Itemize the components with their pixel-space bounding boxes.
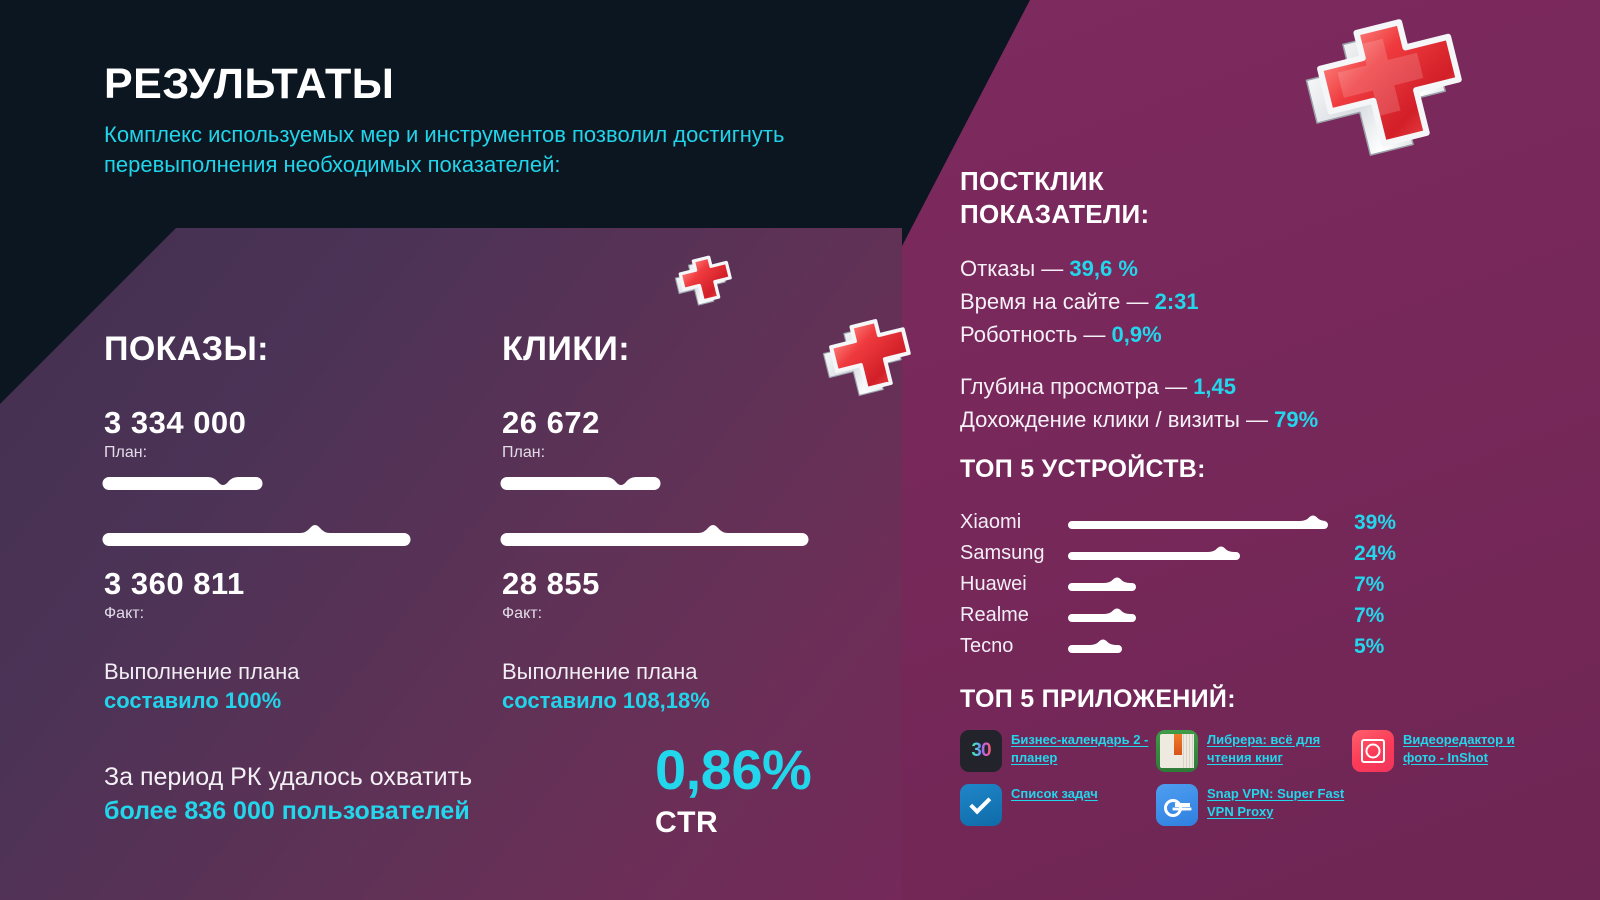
postclick-title-line1: ПОСТКЛИК bbox=[960, 165, 1149, 198]
ctr-block: 0,86% CTR bbox=[655, 742, 811, 840]
app-name[interactable]: Видеоредактор и фото - InShot bbox=[1403, 730, 1548, 767]
device-row: Huawei 7% bbox=[960, 569, 1396, 600]
infographic-root: ПОСТКЛИК ПОКАЗАТЕЛИ: Отказы — 39,6 % Вре… bbox=[0, 0, 1600, 900]
metric-heading: ПОКАЗЫ: bbox=[104, 330, 424, 369]
app-name[interactable]: Snap VPN: Super Fast VPN Proxy bbox=[1207, 784, 1352, 821]
device-bar bbox=[1068, 609, 1336, 623]
app-item[interactable]: Либрера: всё для чтения книг bbox=[1156, 730, 1352, 772]
completion-value: составило 108,18% bbox=[502, 686, 822, 715]
reach-block: За период РК удалось охватить более 836 … bbox=[104, 760, 644, 828]
postclick-label: Глубина просмотра — bbox=[960, 374, 1193, 399]
device-row: Samsung 24% bbox=[960, 538, 1396, 569]
postclick-value: 79% bbox=[1274, 407, 1318, 432]
fact-bar bbox=[502, 530, 822, 552]
postclick-value: 0,9% bbox=[1112, 322, 1162, 347]
apps-grid: 30 Бизнес-календарь 2 - планер Либрера: … bbox=[960, 730, 1560, 838]
page-subtitle: Комплекс используемых мер и инструментов… bbox=[104, 120, 874, 180]
postclick-row: Глубина просмотра — 1,45 bbox=[960, 370, 1318, 403]
postclick-title: ПОСТКЛИК ПОКАЗАТЕЛИ: bbox=[960, 165, 1149, 231]
devices-list: Xiaomi 39% Samsung 24% Huawei bbox=[960, 507, 1396, 662]
app-item[interactable]: Видеоредактор и фото - InShot bbox=[1352, 730, 1548, 772]
postclick-title-line2: ПОКАЗАТЕЛИ: bbox=[960, 198, 1149, 231]
completion-block: Выполнение плана составило 100% bbox=[104, 657, 424, 715]
plan-value: 3 334 000 bbox=[104, 407, 424, 438]
fact-value: 3 360 811 bbox=[104, 568, 424, 599]
postclick-label: Отказы — bbox=[960, 256, 1069, 281]
device-name: Huawei bbox=[960, 573, 1068, 596]
fact-label: Факт: bbox=[104, 605, 424, 623]
plan-bar bbox=[502, 476, 822, 498]
book-icon bbox=[1156, 730, 1198, 772]
apps-row: 30 Бизнес-календарь 2 - планер Либрера: … bbox=[960, 730, 1560, 772]
device-name: Tecno bbox=[960, 635, 1068, 658]
app-name[interactable]: Список задач bbox=[1011, 784, 1098, 803]
app-name[interactable]: Бизнес-календарь 2 - планер bbox=[1011, 730, 1156, 767]
device-name: Xiaomi bbox=[960, 511, 1068, 534]
app-item[interactable]: 30 Бизнес-календарь 2 - планер bbox=[960, 730, 1156, 772]
fact-bar bbox=[104, 530, 424, 552]
reach-value: более 836 000 пользователей bbox=[104, 794, 644, 828]
postclick-row: Время на сайте — 2:31 bbox=[960, 285, 1318, 318]
device-bar bbox=[1068, 516, 1336, 530]
apps-title: ТОП 5 ПРИЛОЖЕНИЙ: bbox=[960, 685, 1236, 714]
postclick-label: Роботность — bbox=[960, 322, 1112, 347]
metric-heading: КЛИКИ: bbox=[502, 330, 822, 369]
app-name[interactable]: Либрера: всё для чтения книг bbox=[1207, 730, 1352, 767]
calendar-30-icon: 30 bbox=[960, 730, 1002, 772]
inshot-icon bbox=[1352, 730, 1394, 772]
app-item[interactable]: Список задач bbox=[960, 784, 1156, 826]
device-name: Realme bbox=[960, 604, 1068, 627]
fact-value: 28 855 bbox=[502, 568, 822, 599]
device-bar bbox=[1068, 547, 1336, 561]
device-row: Realme 7% bbox=[960, 600, 1396, 631]
postclick-label: Дохождение клики / визиты — bbox=[960, 407, 1274, 432]
postclick-row: Дохождение клики / визиты — 79% bbox=[960, 403, 1318, 436]
apps-row: Список задач Snap VPN: Super Fast VPN Pr… bbox=[960, 784, 1560, 826]
reach-text: За период РК удалось охватить bbox=[104, 760, 644, 794]
device-percent: 7% bbox=[1354, 604, 1384, 628]
device-bar bbox=[1068, 578, 1336, 592]
metric-block-impressions: ПОКАЗЫ: 3 334 000 План: 3 360 811 Факт: … bbox=[104, 330, 424, 715]
completion-text: Выполнение плана bbox=[104, 657, 424, 686]
completion-text: Выполнение плана bbox=[502, 657, 822, 686]
page-title: РЕЗУЛЬТАТЫ bbox=[104, 60, 394, 109]
device-percent: 39% bbox=[1354, 511, 1396, 535]
device-percent: 24% bbox=[1354, 542, 1396, 566]
plan-label: План: bbox=[104, 444, 424, 462]
plan-value: 26 672 bbox=[502, 407, 822, 438]
completion-value: составило 100% bbox=[104, 686, 424, 715]
device-bar bbox=[1068, 640, 1336, 654]
postclick-metrics-list: Отказы — 39,6 % Время на сайте — 2:31 Ро… bbox=[960, 252, 1318, 436]
postclick-value: 39,6 % bbox=[1069, 256, 1138, 281]
checkmark-icon bbox=[960, 784, 1002, 826]
completion-block: Выполнение плана составило 108,18% bbox=[502, 657, 822, 715]
plan-label: План: bbox=[502, 444, 822, 462]
postclick-value: 1,45 bbox=[1193, 374, 1236, 399]
postclick-panel: ПОСТКЛИК ПОКАЗАТЕЛИ: Отказы — 39,6 % Вре… bbox=[900, 0, 1600, 900]
postclick-row: Отказы — 39,6 % bbox=[960, 252, 1318, 285]
plan-bar bbox=[104, 476, 424, 498]
postclick-row: Роботность — 0,9% bbox=[960, 318, 1318, 351]
device-percent: 5% bbox=[1354, 635, 1384, 659]
ctr-label: CTR bbox=[655, 806, 811, 840]
device-row: Tecno 5% bbox=[960, 631, 1396, 662]
fact-label: Факт: bbox=[502, 605, 822, 623]
metric-block-clicks: КЛИКИ: 26 672 План: 28 855 Факт: Выполне… bbox=[502, 330, 822, 715]
device-percent: 7% bbox=[1354, 573, 1384, 597]
device-name: Samsung bbox=[960, 542, 1068, 565]
key-icon bbox=[1156, 784, 1198, 826]
ctr-value: 0,86% bbox=[655, 742, 811, 798]
app-item[interactable]: Snap VPN: Super Fast VPN Proxy bbox=[1156, 784, 1352, 826]
devices-title: ТОП 5 УСТРОЙСТВ: bbox=[960, 455, 1206, 484]
postclick-label: Время на сайте — bbox=[960, 289, 1155, 314]
postclick-value: 2:31 bbox=[1155, 289, 1199, 314]
device-row: Xiaomi 39% bbox=[960, 507, 1396, 538]
